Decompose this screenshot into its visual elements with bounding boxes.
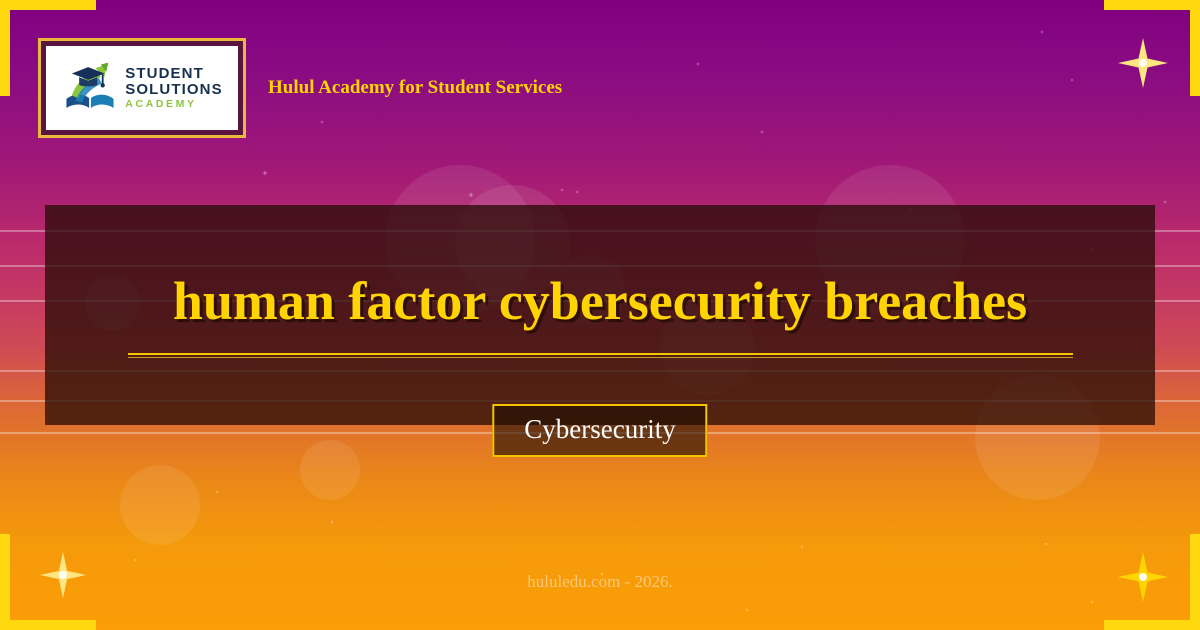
logo-line-2: SOLUTIONS (125, 82, 222, 98)
logo-line-1: STUDENT (125, 66, 222, 82)
logo-frame: STUDENT SOLUTIONS ACADEMY (38, 38, 246, 138)
title-block: human factor cybersecurity breaches (45, 205, 1155, 425)
header: STUDENT SOLUTIONS ACADEMY Hulul Academy … (38, 38, 562, 138)
brand-name: Hulul Academy for Student Services (268, 77, 562, 99)
corner-bracket-top-right (1104, 0, 1200, 96)
graduation-cap-book-icon (61, 59, 119, 117)
logo-wordmark: STUDENT SOLUTIONS ACADEMY (125, 66, 222, 110)
title-divider (128, 353, 1073, 358)
banner-canvas: STUDENT SOLUTIONS ACADEMY Hulul Academy … (0, 0, 1200, 630)
footer-text: hululedu.com - 2026. (0, 572, 1200, 592)
page-title: human factor cybersecurity breaches (153, 272, 1047, 331)
logo-line-3: ACADEMY (125, 99, 222, 110)
academy-logo: STUDENT SOLUTIONS ACADEMY (46, 46, 238, 130)
category-badge: Cybersecurity (492, 404, 707, 457)
